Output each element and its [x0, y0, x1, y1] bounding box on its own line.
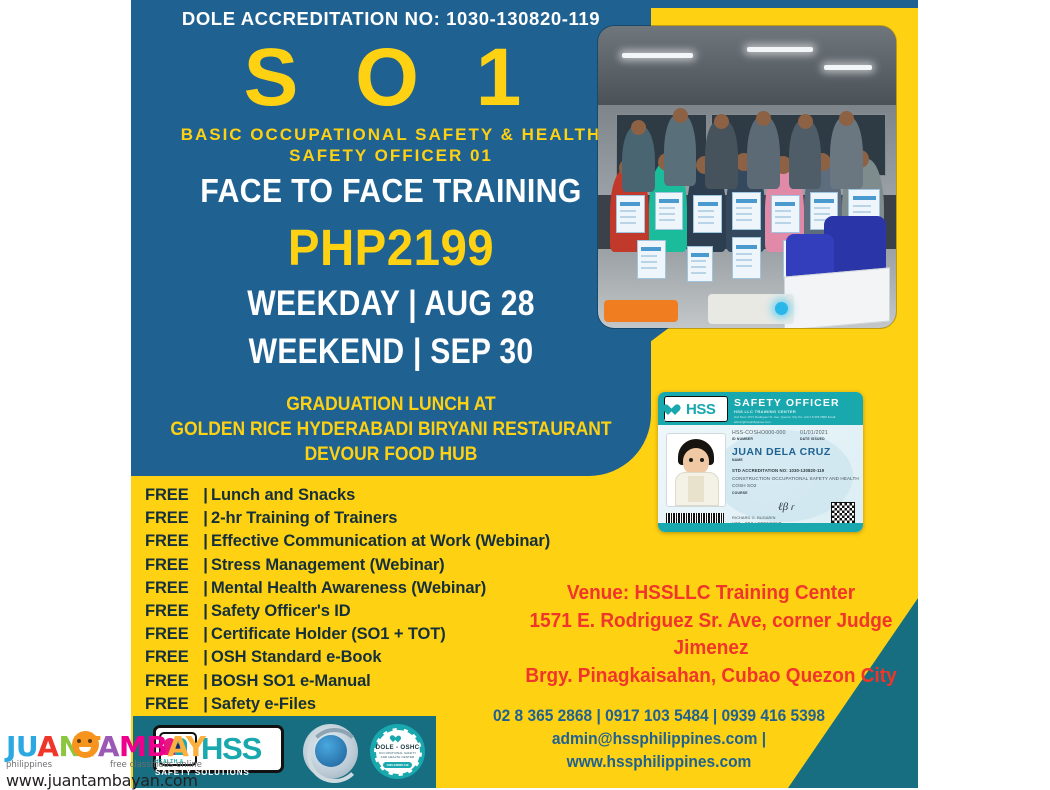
heart-icon — [668, 403, 683, 416]
inclusion-free-keyword: FREE — [145, 484, 200, 507]
inclusion-label: Lunch and Snacks — [211, 484, 355, 507]
inclusion-label: Mental Health Awareness (Webinar) — [211, 577, 486, 600]
juantambayan-watermark: JUANTAMBAY philippines free classifieds … — [6, 733, 202, 785]
contact-web: admin@hssphilippines.com | www.hssphilip… — [462, 728, 857, 774]
inclusion-free-keyword: FREE — [145, 554, 200, 577]
certificate — [693, 195, 722, 233]
training-class-photo — [598, 26, 896, 328]
certificate — [616, 195, 645, 233]
projector — [708, 294, 794, 324]
certificate — [655, 192, 684, 230]
watermark-right-label: free classifieds online — [110, 760, 202, 770]
attendee — [664, 114, 697, 186]
badge-title: DOLE - OSHC — [376, 744, 420, 751]
contact-phones: 02 8 365 2868 | 0917 103 5484 | 0939 416… — [462, 705, 857, 728]
id-logo-text: HSS — [686, 401, 715, 418]
inclusion-separator: | — [200, 693, 211, 716]
certificate — [771, 195, 800, 233]
id-card-body: HSS-COSHO000-000 ID NUMBER 01/01/2021 DA… — [658, 425, 863, 532]
heart-icon — [393, 735, 402, 743]
inclusion-row: FREE|Lunch and Snacks — [145, 484, 625, 507]
attendee-head — [798, 114, 813, 129]
id-logo-subtitle: HEALTH & SAFETY SOLUTIONS — [664, 419, 726, 422]
attendee-head — [756, 111, 771, 126]
ceiling-lamp — [622, 53, 694, 58]
date-issued-label: DATE ISSUED — [800, 437, 825, 441]
id-card-center-name: HSS LLC TRAINING CENTER — [734, 409, 796, 414]
inclusion-separator: | — [200, 554, 211, 577]
badge-subtitle: OCCUPATIONAL SAFETY AND HEALTH CENTER — [376, 752, 420, 759]
id-photo — [666, 433, 726, 507]
inclusion-separator: | — [200, 623, 211, 646]
papers-stack — [784, 267, 890, 328]
inclusion-free-keyword: FREE — [145, 530, 200, 553]
avatar-vest — [688, 476, 704, 502]
venue-line3: Brgy. Pinagkaisahan, Cubao Quezon City — [521, 663, 901, 691]
signatory-name: RICHARD G. BUGARIN — [732, 515, 776, 520]
safety-officer-id-card: HSS HEALTH & SAFETY SOLUTIONS SAFETY OFF… — [658, 392, 863, 532]
inclusion-label: OSH Standard e-Book — [211, 646, 381, 669]
inclusion-label: Safety e-Files — [211, 693, 316, 716]
id-number-value: HSS-COSHO000-000 — [732, 430, 786, 436]
inclusion-label: Safety Officer's ID — [211, 600, 351, 623]
price-label: PHP2199 — [149, 218, 633, 277]
inclusion-free-keyword: FREE — [145, 646, 200, 669]
venue-line1: Venue: HSSLLC Training Center — [521, 580, 901, 608]
holder-name-value: JUAN DELA CRUZ — [732, 446, 831, 458]
inclusion-separator: | — [200, 577, 211, 600]
watermark-url: www.juantambayan.com — [6, 771, 202, 790]
inclusion-label: 2-hr Training of Trainers — [211, 507, 397, 530]
avatar-eye — [700, 458, 704, 462]
id-card-footer-bar — [658, 523, 863, 532]
certificate — [732, 237, 761, 278]
attendee — [747, 117, 780, 189]
id-number-label: ID NUMBER — [732, 437, 753, 441]
id-card-address: 2nd Floor 1571 Rodriguez Sr. Ave, Quezon… — [734, 415, 856, 424]
id-accreditation: STD ACCREDITATION NO: 1030-130820-119 — [732, 468, 824, 473]
mascot-face-icon — [72, 731, 99, 758]
watermark-letter: A — [37, 730, 58, 763]
certificate — [637, 240, 666, 278]
attendee — [830, 117, 863, 189]
avatar-face — [683, 448, 709, 475]
signature-mark: ℓβ ɾ — [778, 501, 794, 513]
inclusion-free-keyword: FREE — [145, 577, 200, 600]
venue-block: Venue: HSSLLC Training Center 1571 E. Ro… — [521, 580, 901, 690]
watermark-letter: JU — [6, 730, 37, 763]
inclusion-free-keyword: FREE — [145, 600, 200, 623]
date-issued-value: 01/01/2021 — [800, 430, 828, 436]
watermark-left-label: philippines — [6, 760, 52, 770]
graduation-line3: DEVOUR FOOD HUB — [152, 442, 630, 467]
schedule-weekend: WEEKEND | SEP 30 — [167, 332, 614, 372]
contact-block: 02 8 365 2868 | 0917 103 5484 | 0939 416… — [462, 705, 857, 774]
inclusion-separator: | — [200, 646, 211, 669]
course-code-heading: S O 1 — [131, 36, 651, 120]
inclusion-separator: | — [200, 670, 211, 693]
watermark-letter: A — [98, 730, 119, 763]
certificate — [732, 192, 761, 230]
holder-name-label: NAME — [732, 458, 743, 462]
badge-inner: DOLE - OSHC OCCUPATIONAL SAFETY AND HEAL… — [374, 728, 422, 776]
attendee-head — [673, 108, 688, 123]
id-course-line1: CONSTRUCTION OCCUPATIONAL SAFETY AND HEA… — [732, 476, 859, 481]
graduation-line2: GOLDEN RICE HYDERABADI BIRYANI RESTAURAN… — [152, 417, 630, 442]
course-title-line2: SAFETY OFFICER 01 — [131, 146, 651, 166]
promo-poster: DOLE ACCREDITATION NO: 1030-130820-119 S… — [131, 0, 918, 788]
schedule-weekday: WEEKDAY | AUG 28 — [167, 284, 614, 324]
inclusion-separator: | — [200, 600, 211, 623]
ceiling-lamp — [824, 65, 872, 70]
attendee-head — [839, 111, 854, 126]
avatar-eye — [689, 458, 693, 462]
watermark-letter: MB — [119, 730, 167, 763]
watermark-brand: JUANTAMBAY — [6, 733, 202, 761]
inclusion-separator: | — [200, 530, 211, 553]
inclusion-free-keyword: FREE — [145, 507, 200, 530]
inclusion-label: Certificate Holder (SO1 + TOT) — [211, 623, 446, 646]
inclusion-label: BOSH SO1 e-Manual — [211, 670, 371, 693]
orange-object — [604, 300, 678, 322]
badge-accreditation-pill: 1030-130820-119 — [383, 762, 413, 768]
watermark-letter: AY — [167, 730, 205, 763]
dole-oshc-badge: DOLE - OSHC OCCUPATIONAL SAFETY AND HEAL… — [370, 724, 425, 779]
graduation-line1: GRADUATION LUNCH AT — [152, 392, 630, 417]
course-title-line1: BASIC OCCUPATIONAL SAFETY & HEALTH — [131, 125, 651, 145]
attendee — [705, 120, 738, 189]
id-card-header: HSS HEALTH & SAFETY SOLUTIONS SAFETY OFF… — [658, 392, 863, 425]
id-course-line2: COSH SO2 — [732, 483, 757, 488]
inclusion-free-keyword: FREE — [145, 693, 200, 716]
id-course-label: COURSE — [732, 491, 748, 495]
attendee-head — [714, 114, 729, 129]
training-mode: FACE TO FACE TRAINING — [152, 172, 630, 210]
attendee — [622, 126, 655, 192]
graduation-lunch-info: GRADUATION LUNCH AT GOLDEN RICE HYDERABA… — [152, 392, 630, 467]
inclusion-row: FREE|Stress Management (Webinar) — [145, 554, 625, 577]
inclusion-free-keyword: FREE — [145, 623, 200, 646]
inclusion-free-keyword: FREE — [145, 670, 200, 693]
id-card-title: SAFETY OFFICER — [734, 397, 840, 409]
hss-footer-logo-text: HSS — [201, 731, 261, 767]
attendee — [789, 120, 822, 189]
inclusion-row: FREE|Effective Communication at Work (We… — [145, 530, 625, 553]
inclusion-label: Effective Communication at Work (Webinar… — [211, 530, 550, 553]
inclusion-separator: | — [200, 507, 211, 530]
ceiling-lamp — [747, 47, 813, 52]
inclusion-separator: | — [200, 484, 211, 507]
accreditation-number: DOLE ACCREDITATION NO: 1030-130820-119 — [131, 8, 651, 30]
certificate — [687, 246, 713, 281]
accreditation-globe-badge — [303, 724, 358, 779]
venue-line2: 1571 E. Rodriguez Sr. Ave, corner Judge … — [521, 608, 901, 663]
globe-icon — [315, 735, 347, 767]
inclusion-row: FREE|2-hr Training of Trainers — [145, 507, 625, 530]
attendee-head — [631, 120, 646, 135]
inclusion-label: Stress Management (Webinar) — [211, 554, 445, 577]
